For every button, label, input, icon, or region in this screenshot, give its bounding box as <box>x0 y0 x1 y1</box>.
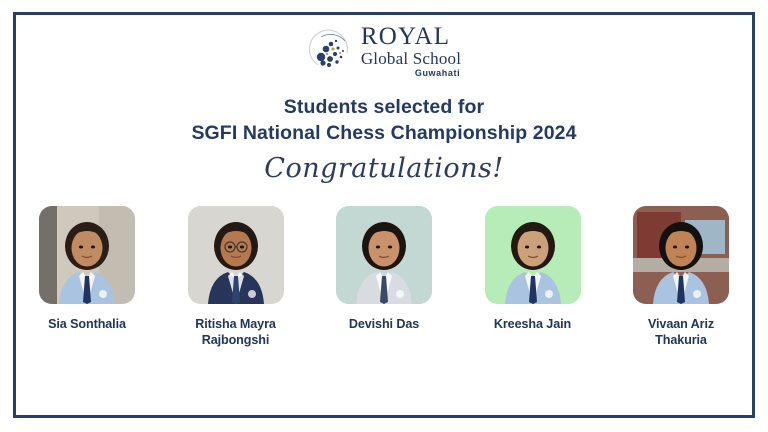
student-name: Sia Sonthalia <box>48 316 126 332</box>
student-name-line: Rajbongshi <box>195 332 276 348</box>
student-name-line: Devishi Das <box>349 316 419 332</box>
logo-line-guwahati: Guwahati <box>415 69 460 78</box>
page-title-line-2: SGFI National Chess Championship 2024 <box>0 121 768 147</box>
student-list: Sia Sonthalia Ritisha MayraRajbongshi De… <box>28 206 740 348</box>
student-card: Kreesha Jain <box>474 206 592 332</box>
school-logo-text: ROYAL Global School Guwahati <box>361 24 461 78</box>
student-card: Sia Sonthalia <box>28 206 146 332</box>
student-name: Vivaan ArizThakuria <box>648 316 714 348</box>
school-logo: ROYAL Global School Guwahati <box>0 24 768 78</box>
student-photo-devishi-das <box>336 206 432 304</box>
royal-global-school-emblem-icon <box>307 27 355 75</box>
student-card: Devishi Das <box>325 206 443 332</box>
congratulations-text: Congratulations! <box>0 153 768 184</box>
student-name-line: Vivaan Ariz <box>648 316 714 332</box>
student-photo-sia-sonthalia <box>39 206 135 304</box>
student-card: Vivaan ArizThakuria <box>622 206 740 348</box>
student-name-line: Sia Sonthalia <box>48 316 126 332</box>
student-name-line: Thakuria <box>648 332 714 348</box>
student-card: Ritisha MayraRajbongshi <box>177 206 295 348</box>
student-name-line: Kreesha Jain <box>494 316 571 332</box>
logo-line-global-school: Global School <box>361 50 461 67</box>
student-name: Ritisha MayraRajbongshi <box>195 316 276 348</box>
student-name: Devishi Das <box>349 316 419 332</box>
student-name-line: Ritisha Mayra <box>195 316 276 332</box>
poster: ROYAL Global School Guwahati Students se… <box>0 0 768 432</box>
student-photo-kreesha-jain <box>485 206 581 304</box>
page-title: Students selected for SGFI National Ches… <box>0 95 768 146</box>
student-photo-ritisha-mayra-rajbongshi <box>188 206 284 304</box>
page-title-line-1: Students selected for <box>0 95 768 121</box>
logo-line-royal: ROYAL <box>361 24 450 49</box>
student-name: Kreesha Jain <box>494 316 571 332</box>
student-photo-vivaan-ariz-thakuria <box>633 206 729 304</box>
